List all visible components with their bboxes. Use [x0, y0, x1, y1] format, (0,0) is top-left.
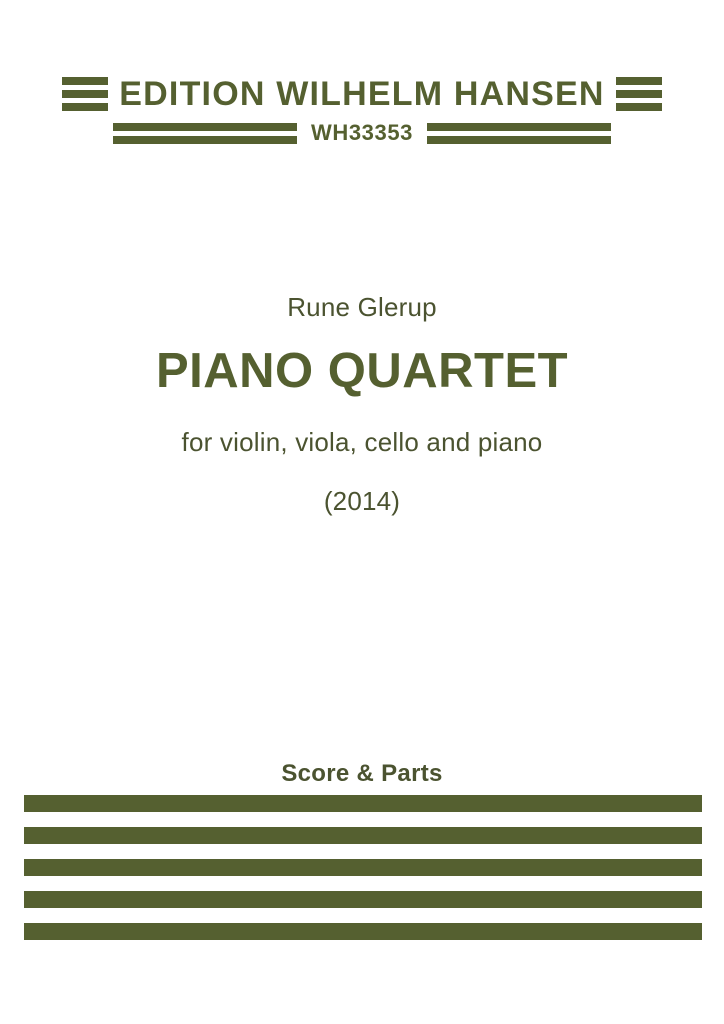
- logo-long-bar-right-2: [427, 136, 611, 144]
- instrumentation-subtitle: for violin, viola, cello and piano: [0, 427, 724, 458]
- logo-long-bars-left: [113, 123, 297, 144]
- composition-year: (2014): [0, 486, 724, 517]
- logo-long-bar-right-1: [427, 123, 611, 131]
- logo-long-bar-left-2: [113, 136, 297, 144]
- sheet-music-cover-page: EDITION WILHELM HANSEN WH33353 Rune Gler…: [0, 0, 724, 1024]
- logo-stripe-left-1: [62, 77, 108, 85]
- footer-bar-1: [24, 795, 702, 812]
- logo-stripes-right: [616, 77, 662, 111]
- logo-stripes-left: [62, 77, 108, 111]
- footer-decorative-bars: [24, 795, 702, 940]
- footer-bar-2: [24, 827, 702, 844]
- edition-type-label: Score & Parts: [0, 760, 724, 789]
- logo-stripe-right-1: [616, 77, 662, 85]
- footer-bar-4: [24, 891, 702, 908]
- title-block: Rune Glerup PIANO QUARTET for violin, vi…: [0, 292, 724, 517]
- work-title: PIANO QUARTET: [0, 345, 724, 399]
- composer-name: Rune Glerup: [0, 292, 724, 323]
- publisher-wordmark: EDITION WILHELM HANSEN: [119, 77, 604, 111]
- logo-stripe-left-3: [62, 103, 108, 111]
- publisher-wordmark-row: EDITION WILHELM HANSEN: [0, 70, 724, 118]
- logo-long-bars-right: [427, 123, 611, 144]
- catalog-number: WH33353: [311, 122, 413, 144]
- footer-bar-3: [24, 859, 702, 876]
- footer-bar-5: [24, 923, 702, 940]
- logo-stripe-right-2: [616, 90, 662, 98]
- logo-stripe-left-2: [62, 90, 108, 98]
- logo-long-bar-left-1: [113, 123, 297, 131]
- publisher-catalog-row: WH33353: [0, 118, 724, 148]
- logo-stripe-right-3: [616, 103, 662, 111]
- publisher-logo-header: EDITION WILHELM HANSEN WH33353: [0, 70, 724, 148]
